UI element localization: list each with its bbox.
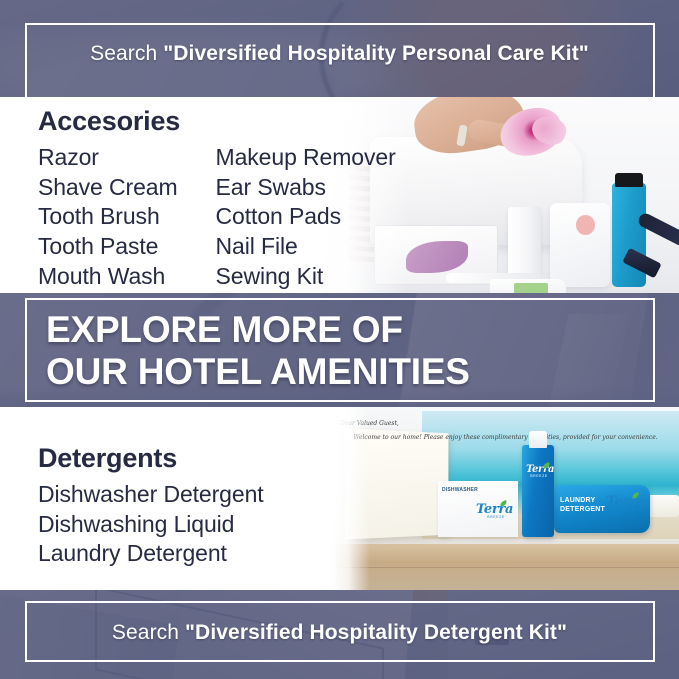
accessories-heading: Accesories: [38, 106, 396, 137]
explore-banner: EXPLORE MORE OF OUR HOTEL AMENITIES: [0, 293, 679, 407]
list-item: Laundry Detergent: [38, 539, 264, 569]
top-search-text: Search "Diversified Hospitality Personal…: [0, 42, 679, 66]
terra-subtext: BREEZE: [526, 475, 552, 479]
bottom-search-lead: Search: [112, 621, 185, 644]
toothpaste-label-band: [514, 283, 548, 293]
terra-logo-liquid: Terra BREEZE: [526, 465, 552, 481]
top-search-query: "Diversified Hospitality Personal Care K…: [163, 42, 589, 65]
list-item: Cotton Pads: [216, 202, 396, 232]
list-item: Dishwasher Detergent: [38, 480, 264, 510]
bottom-search-query: "Diversified Hospitality Detergent Kit": [185, 621, 567, 644]
dishwashing-liquid-cap: [529, 431, 547, 448]
list-item: Razor: [38, 143, 178, 173]
accessories-columns: Razor Shave Cream Tooth Brush Tooth Past…: [38, 143, 396, 291]
search-banner-top: Search "Diversified Hospitality Personal…: [0, 0, 679, 97]
explore-heading-line1: EXPLORE MORE OF: [46, 309, 403, 350]
accessories-list-left: Razor Shave Cream Tooth Brush Tooth Past…: [38, 143, 178, 291]
soap-accent-dot: [576, 215, 595, 235]
wood-seam-line: [330, 567, 679, 568]
dishwashing-liquid-bottle: [522, 445, 554, 537]
explore-heading: EXPLORE MORE OF OUR HOTEL AMENITIES: [46, 309, 470, 393]
list-item: Tooth Brush: [38, 202, 178, 232]
dishwasher-label-main: DISHWASHER: [442, 487, 478, 493]
list-item: Sewing Kit: [216, 262, 396, 292]
infographic-page: Search "Diversified Hospitality Personal…: [0, 0, 679, 679]
list-item: Mouth Wash: [38, 262, 178, 292]
accessories-list-right: Makeup Remover Ear Swabs Cotton Pads Nai…: [216, 143, 396, 291]
list-item: Makeup Remover: [216, 143, 396, 173]
terra-logo-laundry: Terra BREEZE: [606, 495, 646, 519]
detergents-section: Dear Valued Guest, Welcome to our home! …: [0, 407, 679, 590]
list-item: Shave Cream: [38, 173, 178, 203]
guest-card-greeting: Dear Valued Guest,: [340, 419, 671, 428]
terra-logo-dishwasher: Terra BREEZE: [476, 503, 516, 525]
dishwasher-pack-label: DISHWASHER: [442, 487, 496, 495]
detergents-product-photo: Dear Valued Guest, Welcome to our home! …: [330, 407, 679, 590]
detergents-list: Dishwasher Detergent Dishwashing Liquid …: [38, 480, 264, 569]
list-item: Ear Swabs: [216, 173, 396, 203]
list-item: Nail File: [216, 232, 396, 262]
list-item: Dishwashing Liquid: [38, 510, 264, 540]
search-banner-bottom: Search "Diversified Hospitality Detergen…: [0, 590, 679, 679]
list-item: Tooth Paste: [38, 232, 178, 262]
detergents-copy-block: Detergents Dishwasher Detergent Dishwash…: [38, 443, 264, 569]
accessories-copy-block: Accesories Razor Shave Cream Tooth Brush…: [38, 106, 396, 291]
detergents-heading: Detergents: [38, 443, 264, 474]
terra-wordmark: Terra: [606, 495, 646, 509]
top-search-lead: Search: [90, 42, 163, 65]
guest-card-body: Welcome to our home! Please enjoy these …: [353, 434, 657, 441]
bottom-search-text: Search "Diversified Hospitality Detergen…: [0, 621, 679, 645]
accessories-section: Accesories Razor Shave Cream Tooth Brush…: [0, 97, 679, 293]
mouthwash-cap: [615, 173, 643, 187]
detergents-photo-fade: [330, 407, 370, 590]
guest-card-text: Dear Valued Guest, Welcome to our home! …: [340, 419, 671, 443]
explore-heading-line2: OUR HOTEL AMENITIES: [46, 351, 470, 393]
laundry-pouch-label: LAUNDRY DETERGENT: [560, 497, 612, 515]
